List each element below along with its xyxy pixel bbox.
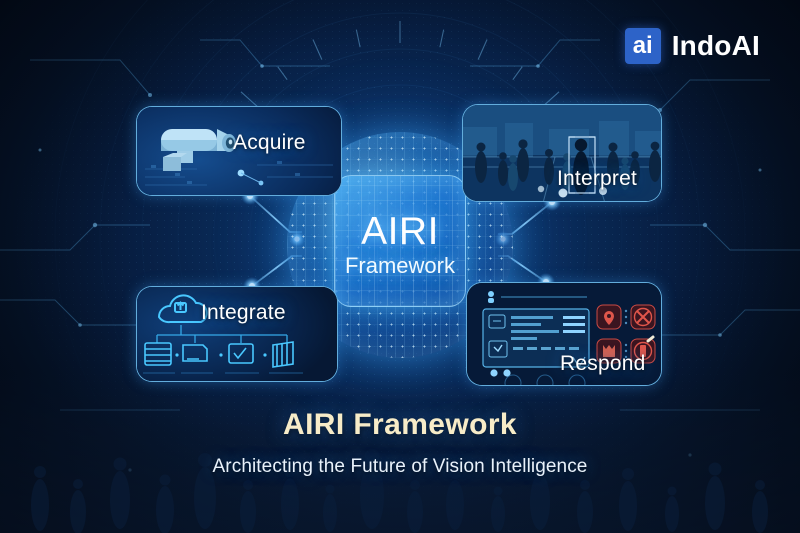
brand-mark-icon: ai [625, 28, 661, 64]
brand-logo[interactable]: ai IndoAI [625, 28, 760, 64]
node-card-respond[interactable]: Respond [466, 282, 662, 386]
page-subtitle: Architecting the Future of Vision Intell… [0, 456, 800, 478]
page-title: AIRI Framework [0, 408, 800, 442]
footer-text-block: AIRI Framework Architecting the Future o… [0, 408, 800, 478]
node-label-acquire: Acquire [233, 131, 306, 155]
core-title: AIRI [361, 212, 439, 253]
node-card-integrate[interactable]: Integrate [136, 286, 338, 382]
node-label-interpret: Interpret [557, 167, 637, 191]
node-label-integrate: Integrate [201, 301, 286, 325]
infographic-canvas: AIRI Framework [0, 0, 800, 533]
core-subtitle: Framework [345, 255, 455, 278]
node-card-interpret[interactable]: Interpret [462, 104, 662, 202]
node-label-respond: Respond [560, 352, 645, 376]
node-card-acquire[interactable]: Acquire [136, 106, 342, 196]
brand-name: IndoAI [672, 30, 760, 62]
